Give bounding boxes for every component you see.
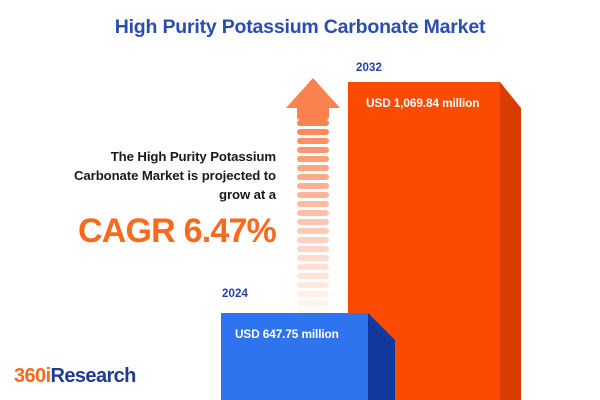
arrow-gradient-segment — [297, 147, 329, 153]
arrow-gradient-segment — [297, 291, 329, 297]
growth-arrow-icon — [286, 78, 340, 296]
infographic-canvas: High Purity Potassium Carbonate Market T… — [0, 0, 600, 400]
arrow-gradient-segment — [297, 174, 329, 180]
arrow-gradient-segment — [297, 156, 329, 162]
arrow-gradient-segment — [297, 264, 329, 270]
arrow-gradient-segment — [297, 165, 329, 171]
arrow-gradient-segments — [286, 104, 340, 294]
caption-line-2: Carbonate Market is projected to — [18, 166, 276, 185]
arrow-gradient-segment — [297, 129, 329, 135]
caption-line-1: The High Purity Potassium — [18, 147, 276, 166]
bar-2024-value-label: USD 647.75 million — [235, 327, 339, 341]
cagr-caption-block: The High Purity Potassium Carbonate Mark… — [18, 147, 276, 251]
arrow-gradient-segment — [297, 210, 329, 216]
arrow-gradient-segment — [297, 192, 329, 198]
page-title: High Purity Potassium Carbonate Market — [0, 16, 600, 39]
arrow-gradient-segment — [297, 255, 329, 261]
logo-wordmark: Research — [51, 365, 136, 387]
arrow-gradient-segment — [297, 201, 329, 207]
arrow-gradient-segment — [297, 246, 329, 252]
caption-line-3: grow at a — [18, 185, 276, 204]
cagr-value: CAGR 6.47% — [18, 211, 276, 251]
arrow-gradient-segment — [297, 219, 329, 225]
bar-2032-side-face — [500, 82, 521, 400]
arrow-gradient-segment — [297, 237, 329, 243]
bar-2032-value-label: USD 1,069.84 million — [366, 96, 479, 110]
bar-2032-category-label: 2032 — [356, 62, 382, 74]
brand-logo: 360iResearch — [14, 365, 136, 388]
arrow-gradient-segment — [297, 300, 329, 306]
arrow-gradient-segment — [297, 183, 329, 189]
bar-2024-category-label: 2024 — [222, 288, 248, 300]
caption-text: The High Purity Potassium Carbonate Mark… — [18, 147, 276, 204]
arrow-gradient-segment — [297, 120, 329, 126]
arrow-gradient-segment — [297, 138, 329, 144]
arrow-gradient-segment — [297, 228, 329, 234]
arrow-gradient-segment — [297, 282, 329, 288]
logo-mark: 360i — [14, 365, 51, 387]
arrow-gradient-segment — [297, 273, 329, 279]
